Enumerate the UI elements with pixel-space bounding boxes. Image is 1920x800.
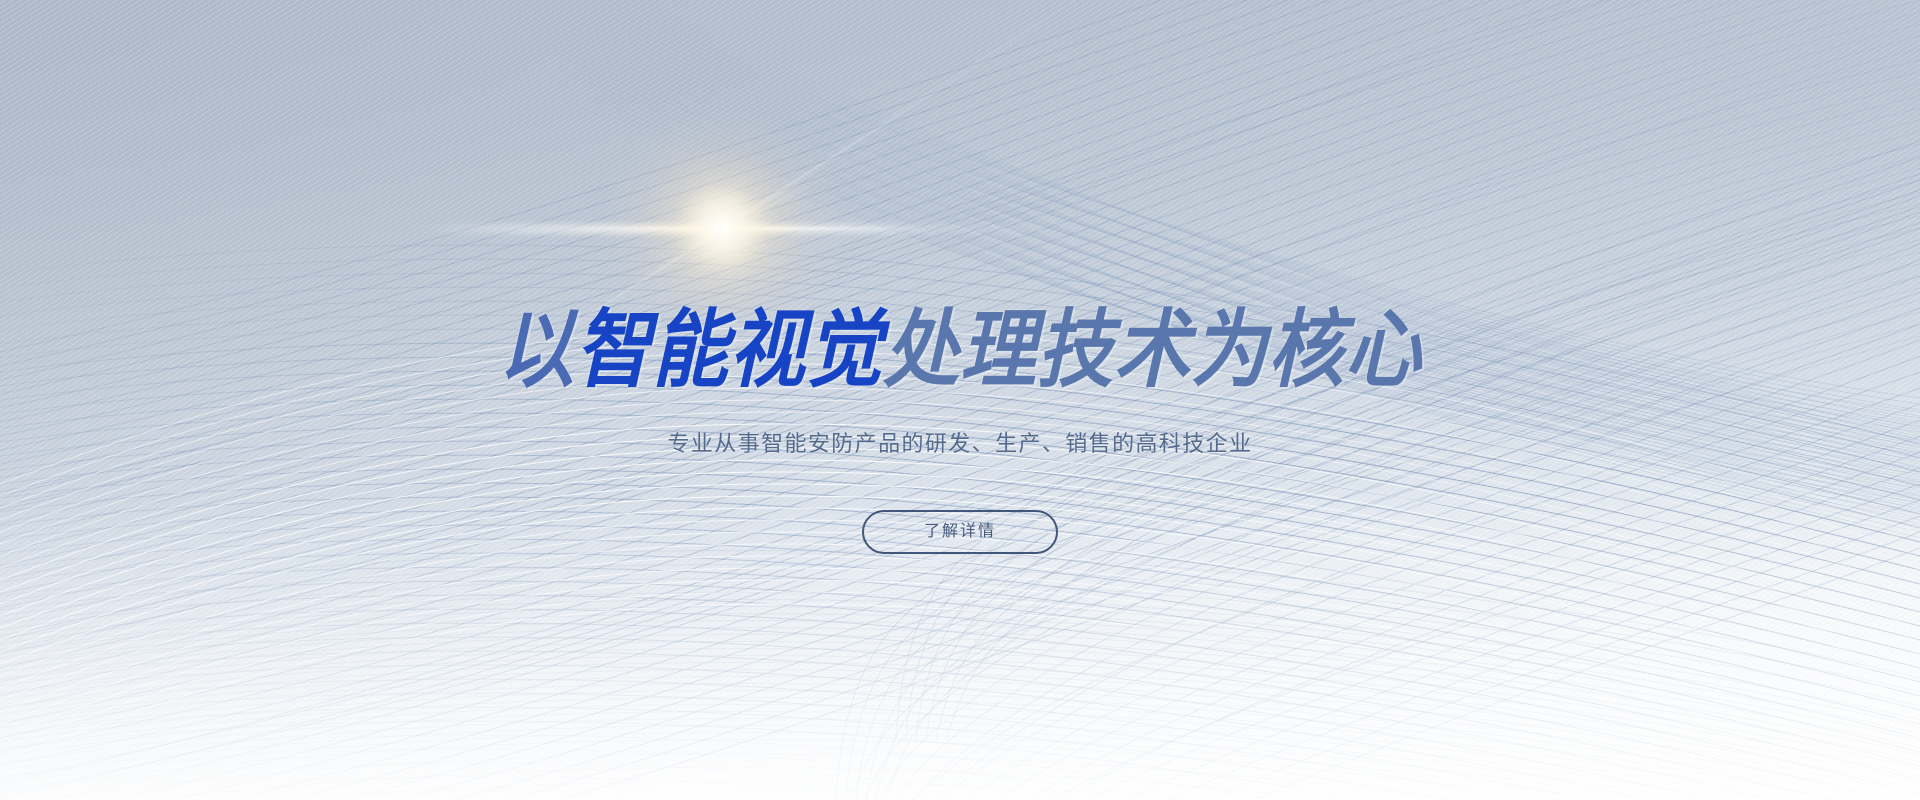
page-subtitle: 专业从事智能安防产品的研发、生产、销售的高科技企业 bbox=[0, 429, 1920, 460]
hero-banner: 以智能视觉处理技术为核心 专业从事智能安防产品的研发、生产、销售的高科技企业 了… bbox=[0, 0, 1920, 800]
learn-more-button[interactable]: 了解详情 bbox=[862, 510, 1058, 554]
page-title: 以智能视觉处理技术为核心 bbox=[0, 308, 1920, 393]
cta-container: 了解详情 bbox=[0, 510, 1920, 554]
headline-segment-2: 智能视觉 bbox=[575, 308, 883, 393]
headline-segment-1: 以 bbox=[498, 308, 575, 393]
headline-segment-3: 处理技术为核心 bbox=[883, 308, 1422, 393]
banner-content: 以智能视觉处理技术为核心 专业从事智能安防产品的研发、生产、销售的高科技企业 了… bbox=[0, 0, 1920, 800]
